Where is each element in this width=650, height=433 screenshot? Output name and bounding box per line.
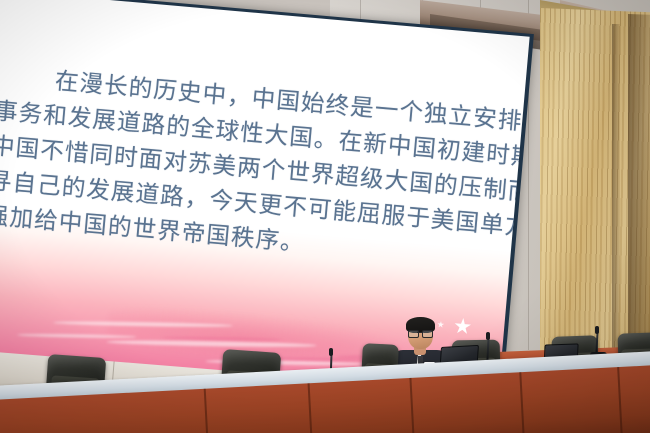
large-star-icon (453, 317, 471, 335)
table-panel-seam (204, 389, 210, 433)
microphone-center-head (329, 348, 333, 356)
slide-text-block: 在漫长的历史中，中国始终是一个独立安排自身 事务和发展道路的全球性大国。在新中国… (0, 59, 497, 277)
curtain-shadow-edge (628, 14, 650, 355)
table-panel-seam (308, 383, 314, 433)
presentation-room-photo: 在漫长的历史中，中国始终是一个独立安排自身 事务和发展道路的全球性大国。在新中国… (0, 0, 650, 433)
microphone-right-head (595, 326, 599, 334)
microphone-speaker-head (486, 332, 490, 340)
table-panel-seam (617, 367, 623, 433)
table-panel-seam (409, 378, 415, 433)
curtain-post (612, 24, 620, 354)
table-panel-seam (519, 372, 525, 433)
glasses-icon (408, 330, 433, 336)
